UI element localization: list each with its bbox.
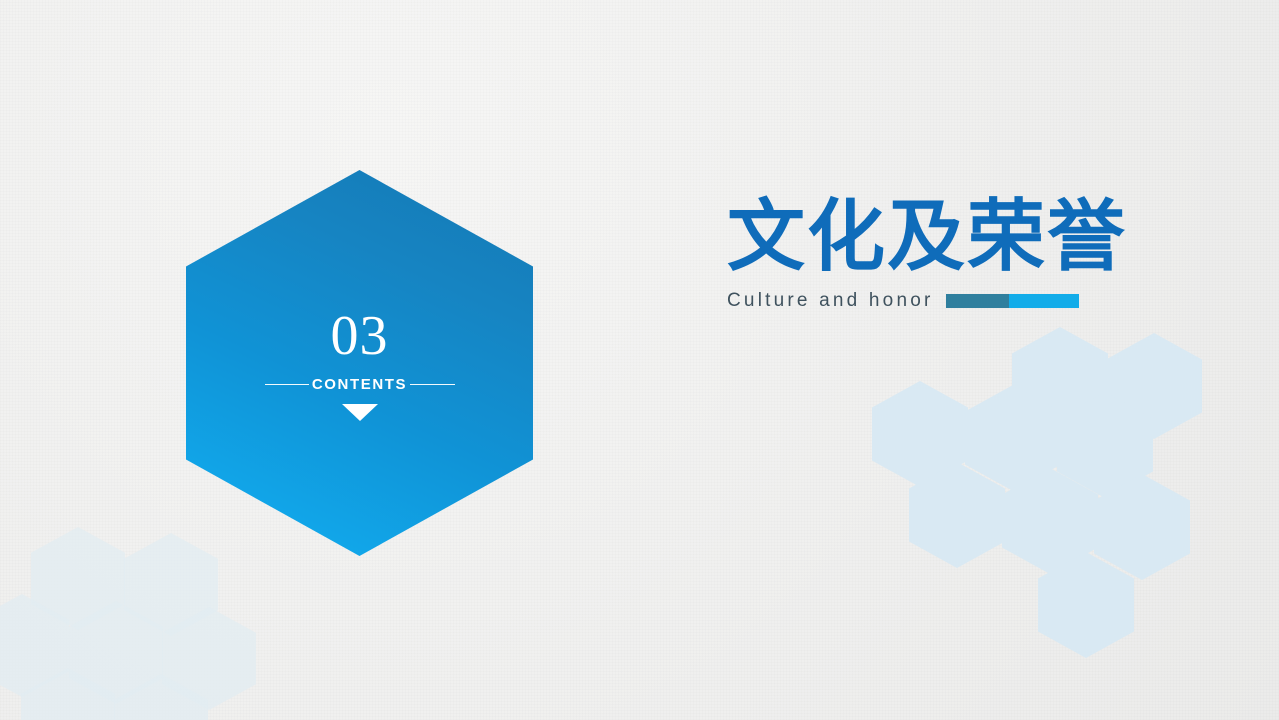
hexagon-decoration (1038, 552, 1134, 658)
hexagon-decoration (31, 527, 125, 630)
page-title: 文化及荣誉 (727, 196, 1147, 278)
hexagon-decoration (21, 668, 115, 720)
hexagon-decoration (965, 385, 1061, 491)
hexagon-decoration (1094, 474, 1190, 580)
hexagon-decoration (0, 594, 69, 697)
contents-label-row: CONTENTS (265, 376, 455, 393)
rule-right (410, 384, 454, 385)
heading-block: 文化及荣誉 Culture and honor (727, 196, 1147, 310)
hexagon-decoration (114, 674, 208, 720)
hexagon-decoration (909, 462, 1005, 568)
accent-bar-segment-right (1009, 294, 1078, 308)
hexagon-decoration (162, 607, 256, 710)
contents-label: CONTENTS (309, 376, 410, 393)
accent-bar-segment-left (946, 294, 1010, 308)
page-subtitle: Culture and honor (727, 290, 934, 312)
hexagon-decoration (1106, 333, 1202, 439)
triangle-down-icon (342, 404, 378, 421)
subtitle-row: Culture and honor (727, 292, 1147, 310)
contents-hexagon-badge[interactable]: 03 CONTENTS (186, 170, 533, 556)
hexagon-content: 03 CONTENTS (186, 308, 533, 421)
hexagon-decoration (1057, 392, 1153, 498)
rule-left (265, 384, 309, 385)
section-number: 03 (331, 308, 389, 364)
hexagon-decoration (1012, 327, 1108, 433)
hexagon-decoration (872, 381, 968, 487)
presentation-slide: 03 CONTENTS 文化及荣誉 Culture and honor (0, 0, 1279, 720)
accent-bar (946, 294, 1079, 308)
hexagon-decoration (1002, 468, 1098, 574)
hexagon-decoration (69, 601, 163, 704)
